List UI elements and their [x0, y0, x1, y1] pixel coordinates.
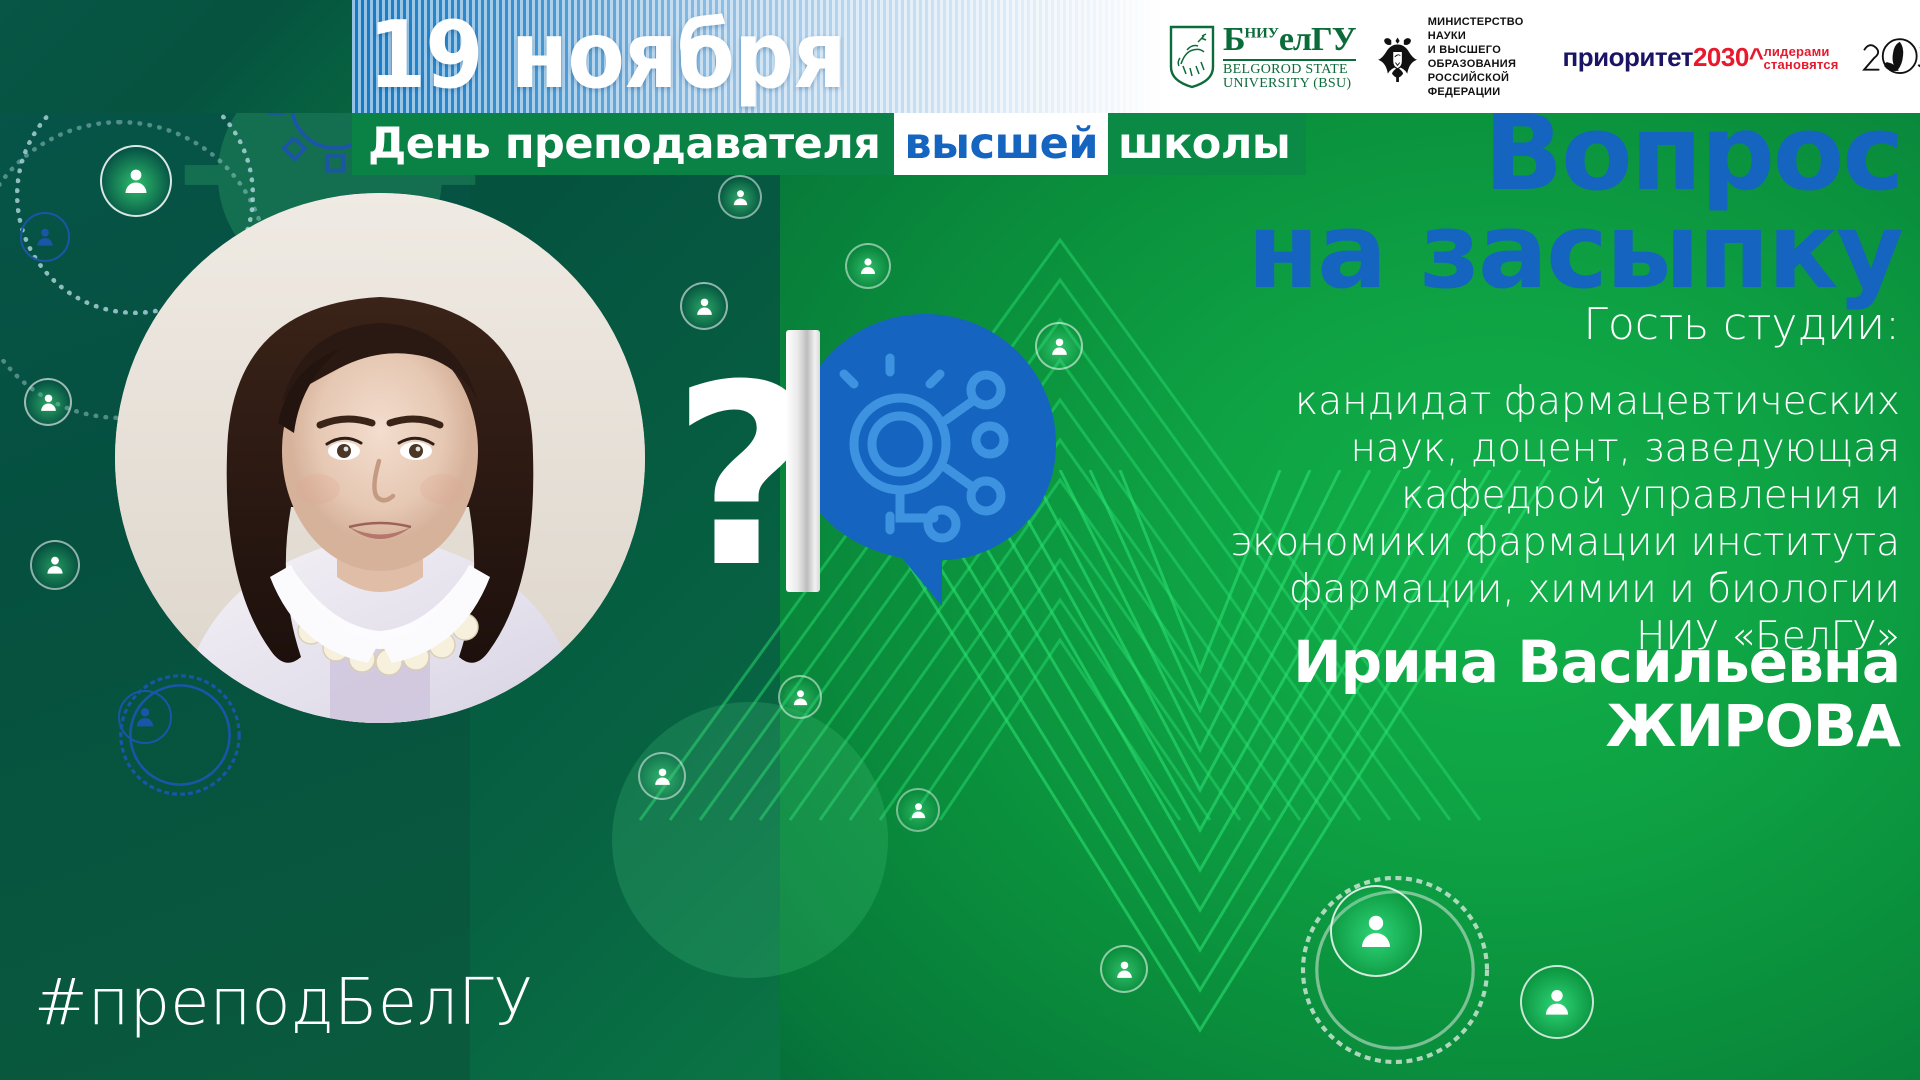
person-icon: [789, 686, 812, 709]
subtitle-part1: День преподавателя: [368, 121, 880, 167]
guest-label: Гость студии:: [1583, 300, 1900, 350]
avatar-chip: [20, 212, 70, 262]
logo-priority2030: приоритет2030^ лидерами становятся: [1563, 42, 1839, 71]
event-date: 19 ноября: [368, 5, 1168, 113]
avatar-chip: [680, 282, 728, 330]
avatar-chip: [845, 243, 891, 289]
promo-banner: ? 19 ноября День преподавателя высшей шк…: [0, 0, 1920, 1080]
person-icon: [32, 224, 58, 250]
headline: Вопрос на засыпку: [1247, 104, 1902, 300]
pelican-icon: [1859, 33, 1920, 81]
subtitle-part1-wrap: День преподавателя: [352, 113, 894, 175]
priority-name: приоритет2030^: [1563, 44, 1764, 70]
bsu-text: БНИУелГУ BELGOROD STATE UNIVERSITY (BSU): [1223, 23, 1356, 91]
topbar-left-green: [0, 0, 352, 113]
double-headed-eagle-icon: [1376, 19, 1419, 95]
bsu-en-line1: BELGOROD STATE: [1223, 63, 1356, 77]
avatar-chip: [896, 788, 940, 832]
bsu-niu: НИУ: [1244, 25, 1278, 41]
page-curl: [786, 330, 820, 592]
avatar-chip: [1100, 945, 1148, 993]
bsu-divider: [1223, 59, 1356, 61]
bsu-b: Б: [1223, 21, 1244, 58]
person-icon: [131, 703, 159, 731]
priority-caret: ^: [1749, 42, 1764, 72]
logo-ministry: МИНИСТЕРСТВО НАУКИ И ВЫСШЕГО ОБРАЗОВАНИЯ…: [1376, 15, 1543, 99]
avatar-chip: [30, 540, 80, 590]
headline-line1: Вопрос: [1247, 104, 1902, 202]
bsu-gu: ГУ: [1311, 21, 1356, 58]
avatar-chip: [1330, 885, 1422, 977]
subtitle-row: День преподавателя высшей школы: [352, 113, 1306, 175]
avatar-chip: [718, 175, 762, 219]
person-icon: [36, 390, 61, 415]
person-icon: [1538, 983, 1576, 1021]
shield-st-george-icon: [1168, 24, 1216, 90]
logo-teacher-year: ГОД ПЕДАГОГА И НАСТАВНИКА: [1859, 33, 1920, 81]
bsu-en-line2: UNIVERSITY (BSU): [1223, 77, 1356, 91]
gear-tonal-bottomcenter: [600, 690, 900, 990]
person-icon: [118, 163, 154, 199]
avatar-chip: [118, 690, 172, 744]
guest-name-line2: ЖИРОВА: [1140, 694, 1900, 758]
avatar-chip: [24, 378, 72, 426]
bsu-el: ел: [1279, 21, 1311, 58]
avatar-chip: [638, 752, 686, 800]
person-icon: [692, 294, 717, 319]
headline-line2: на засыпку: [1247, 202, 1902, 300]
hashtag: #преподБелГУ: [34, 968, 533, 1038]
priority-year: 2030: [1693, 42, 1749, 72]
avatar-chip: [778, 675, 822, 719]
bsu-name-line: БНИУелГУ: [1223, 23, 1356, 57]
guest-name: Ирина Васильевна ЖИРОВА: [1140, 630, 1900, 758]
ministry-line2: И ВЫСШЕГО ОБРАЗОВАНИЯ: [1428, 43, 1543, 71]
ministry-text: МИНИСТЕРСТВО НАУКИ И ВЫСШЕГО ОБРАЗОВАНИЯ…: [1428, 15, 1543, 99]
person-icon: [729, 186, 752, 209]
person-icon: [650, 764, 675, 789]
guest-name-line1: Ирина Васильевна: [1140, 630, 1900, 694]
guest-portrait: [115, 193, 645, 723]
person-icon: [907, 799, 930, 822]
subtitle-part2-wrap: высшей: [894, 113, 1108, 175]
avatar-chip: [100, 145, 172, 217]
guest-description: кандидат фармацевтических наук, доцент, …: [1200, 378, 1900, 660]
logo-bsu: БНИУелГУ BELGOROD STATE UNIVERSITY (BSU): [1168, 23, 1356, 91]
avatar-chip: [1520, 965, 1594, 1039]
speech-bubble: [790, 310, 1060, 610]
person-icon: [1112, 957, 1137, 982]
priority-word: приоритет: [1563, 42, 1693, 72]
subtitle-part2: высшей: [904, 121, 1098, 167]
person-icon: [42, 552, 68, 578]
priority-tagline: лидерами становятся: [1763, 45, 1838, 71]
person-icon: [856, 254, 880, 278]
ministry-line1: МИНИСТЕРСТВО НАУКИ: [1428, 15, 1543, 43]
person-icon: [1352, 907, 1400, 955]
